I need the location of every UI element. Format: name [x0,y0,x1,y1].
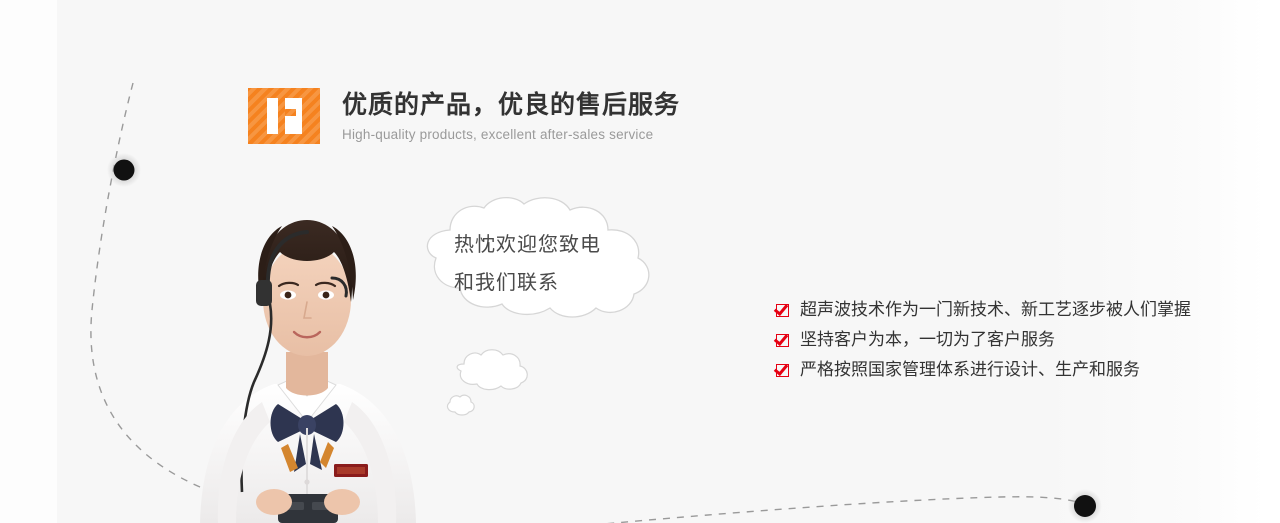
badge-digit-zero [267,98,278,134]
speech-bubble-trail-small [442,393,478,417]
list-item-label: 坚持客户为本，一切为了客户服务 [800,328,1055,352]
section-number-digits [248,88,320,144]
page-title: 优质的产品，优良的售后服务 [342,90,680,120]
speech-bubble-trail-large [448,348,532,392]
speech-bubble-line-1: 热忱欢迎您致电 [454,226,644,264]
background-right-strip [1265,0,1280,523]
list-item: 超声波技术作为一门新技术、新工艺逐步被人们掌握 [776,298,1216,328]
hand-left [256,489,292,515]
page-subtitle: High-quality products, excellent after-s… [342,127,680,142]
list-item-label: 严格按照国家管理体系进行设计、生产和服务 [800,358,1140,382]
trail-cloud-large-shape [457,350,527,390]
feature-list: 超声波技术作为一门新技术、新工艺逐步被人们掌握 坚持客户为本，一切为了客户服务 … [776,298,1216,388]
check-icon [776,364,789,377]
speech-bubble: 热忱欢迎您致电 和我们联系 [402,196,670,320]
badge-digit-three [285,98,302,134]
background-left-strip [0,0,57,523]
section-header-text: 优质的产品，优良的售后服务 High-quality products, exc… [342,88,680,142]
customer-service-agent-photo [182,182,432,523]
section-number-badge: 03 [248,88,320,144]
promo-section: 03 优质的产品，优良的售后服务 High-quality products, … [0,0,1280,523]
list-item: 坚持客户为本，一切为了客户服务 [776,328,1216,358]
neck [286,352,328,396]
section-header: 03 优质的产品，优良的售后服务 High-quality products, … [248,88,680,144]
list-item-label: 超声波技术作为一门新技术、新工艺逐步被人们掌握 [800,298,1191,322]
headset-earpiece [256,280,272,306]
hand-right [324,489,360,515]
trail-cloud-small-shape [448,395,475,415]
pupil-left [285,292,292,299]
check-icon [776,334,789,347]
speech-bubble-text: 热忱欢迎您致电 和我们联系 [454,226,644,302]
pupil-right [323,292,330,299]
name-badge-inner [337,467,365,474]
check-icon [776,304,789,317]
speech-bubble-line-2: 和我们联系 [454,264,644,302]
shirt-button [304,479,309,484]
list-item: 严格按照国家管理体系进行设计、生产和服务 [776,358,1216,388]
